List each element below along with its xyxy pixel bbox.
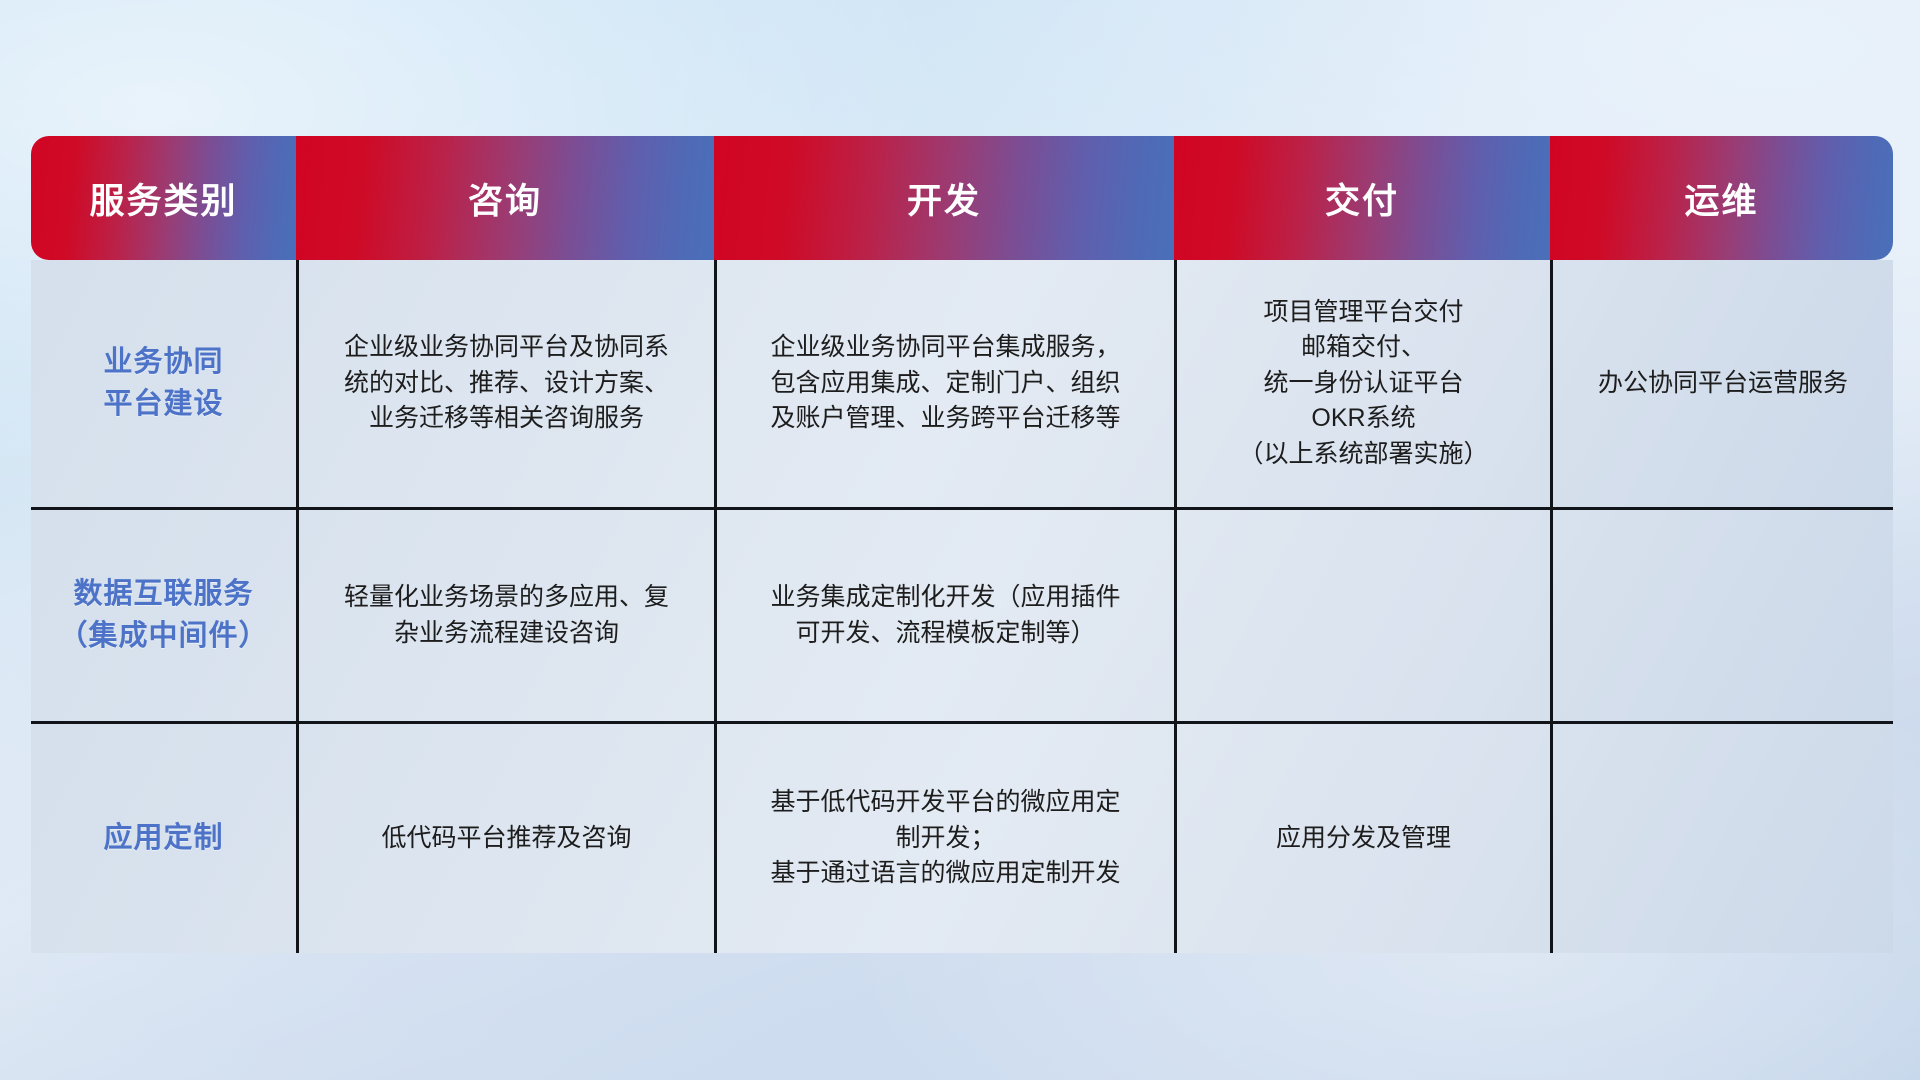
cell-line: 统一身份认证平台: [1191, 366, 1536, 402]
header-cell-consulting: 咨询: [296, 136, 714, 260]
service-matrix-table: 服务类别 咨询 开发 交付 运维 业务协同 平台建设 企业级业务协同平台及协同系: [31, 136, 1893, 953]
cell-line: 制开发；: [731, 821, 1160, 857]
category-line: （集成中间件）: [45, 616, 282, 657]
cell-consulting: 企业级业务协同平台及协同系 统的对比、推荐、设计方案、 业务迁移等相关咨询服务: [296, 260, 714, 507]
cell-delivery: 项目管理平台交付 邮箱交付、 统一身份认证平台 OKR系统 （以上系统部署实施）: [1174, 260, 1550, 507]
cell-line: 办公协同平台运营服务: [1567, 366, 1879, 402]
table-body: 业务协同 平台建设 企业级业务协同平台及协同系 统的对比、推荐、设计方案、 业务…: [31, 260, 1893, 953]
cell-line: 低代码平台推荐及咨询: [313, 821, 700, 857]
header-cell-delivery: 交付: [1174, 136, 1550, 260]
cell-line: 企业级业务协同平台及协同系: [313, 330, 700, 366]
cell-line: 包含应用集成、定制门户、组织: [731, 366, 1160, 402]
slide-canvas: 服务类别 咨询 开发 交付 运维 业务协同 平台建设 企业级业务协同平台及协同系: [0, 0, 1920, 1080]
cell-operations: [1550, 507, 1893, 721]
cell-line: 业务迁移等相关咨询服务: [313, 401, 700, 437]
cell-line: 基于低代码开发平台的微应用定: [731, 785, 1160, 821]
row-category-label: 业务协同 平台建设: [31, 260, 296, 507]
cell-line: 邮箱交付、: [1191, 330, 1536, 366]
cell-line: OKR系统: [1191, 401, 1536, 437]
cell-line: （以上系统部署实施）: [1191, 437, 1536, 473]
cell-consulting: 轻量化业务场景的多应用、复 杂业务流程建设咨询: [296, 507, 714, 721]
cell-operations: 办公协同平台运营服务: [1550, 260, 1893, 507]
cell-consulting: 低代码平台推荐及咨询: [296, 721, 714, 953]
cell-development: 基于低代码开发平台的微应用定 制开发； 基于通过语言的微应用定制开发: [714, 721, 1174, 953]
table-row: 数据互联服务 （集成中间件） 轻量化业务场景的多应用、复 杂业务流程建设咨询 业…: [31, 507, 1893, 721]
cell-line: 项目管理平台交付: [1191, 295, 1536, 331]
category-line: 应用定制: [45, 818, 282, 859]
header-cell-development: 开发: [714, 136, 1174, 260]
category-line: 平台建设: [45, 384, 282, 425]
row-category-label: 数据互联服务 （集成中间件）: [31, 507, 296, 721]
cell-line: 可开发、流程模板定制等）: [731, 616, 1160, 652]
table-header: 服务类别 咨询 开发 交付 运维: [31, 136, 1893, 260]
header-cell-service-category: 服务类别: [31, 136, 296, 260]
cell-delivery: [1174, 507, 1550, 721]
header-cell-operations: 运维: [1550, 136, 1893, 260]
cell-line: 及账户管理、业务跨平台迁移等: [731, 401, 1160, 437]
header-row: 服务类别 咨询 开发 交付 运维: [31, 136, 1893, 260]
table-row: 应用定制 低代码平台推荐及咨询 基于低代码开发平台的微应用定 制开发； 基于通过…: [31, 721, 1893, 953]
cell-line: 应用分发及管理: [1191, 821, 1536, 857]
category-line: 业务协同: [45, 342, 282, 383]
cell-line: 轻量化业务场景的多应用、复: [313, 580, 700, 616]
cell-line: 基于通过语言的微应用定制开发: [731, 856, 1160, 892]
cell-development: 企业级业务协同平台集成服务， 包含应用集成、定制门户、组织 及账户管理、业务跨平…: [714, 260, 1174, 507]
cell-line: 杂业务流程建设咨询: [313, 616, 700, 652]
cell-line: 企业级业务协同平台集成服务，: [731, 330, 1160, 366]
cell-line: 统的对比、推荐、设计方案、: [313, 366, 700, 402]
service-matrix-table-wrapper: 服务类别 咨询 开发 交付 运维 业务协同 平台建设 企业级业务协同平台及协同系: [31, 136, 1893, 956]
row-category-label: 应用定制: [31, 721, 296, 953]
cell-development: 业务集成定制化开发（应用插件 可开发、流程模板定制等）: [714, 507, 1174, 721]
category-line: 数据互联服务: [45, 574, 282, 615]
cell-delivery: 应用分发及管理: [1174, 721, 1550, 953]
table-row: 业务协同 平台建设 企业级业务协同平台及协同系 统的对比、推荐、设计方案、 业务…: [31, 260, 1893, 507]
cell-operations: [1550, 721, 1893, 953]
cell-line: 业务集成定制化开发（应用插件: [731, 580, 1160, 616]
